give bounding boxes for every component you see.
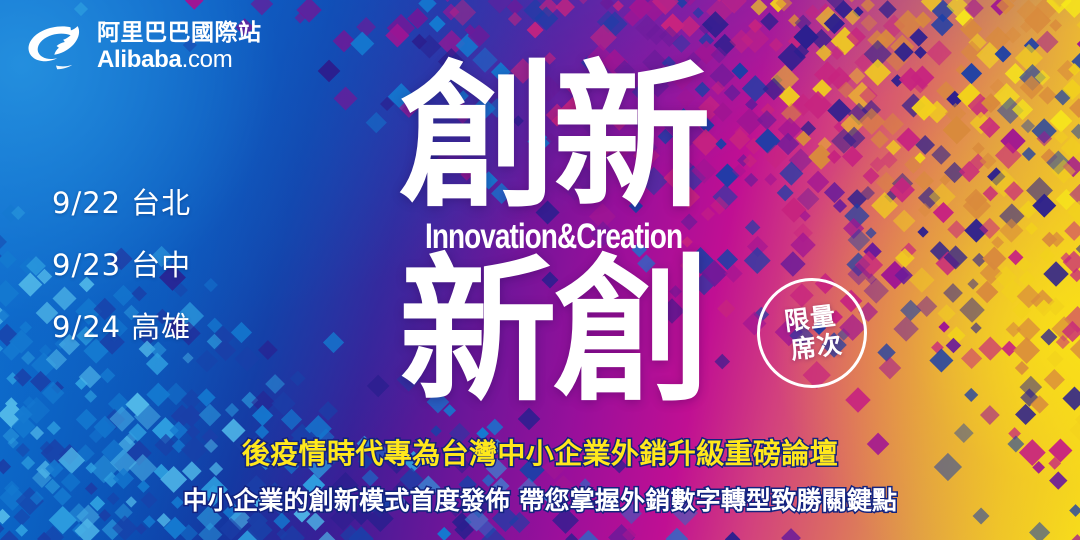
city-name: 台北 [131,186,191,220]
date-value: 9/22 [52,186,121,220]
tagline-primary: 後疫情時代專為台灣中小企業外銷升級重磅論壇 [0,432,1080,472]
logo-chinese-name: 阿里巴巴國際站 [97,22,262,45]
headline-line-2: 新創 [393,256,713,409]
alibaba-logo[interactable]: 阿里巴巴國際站 Alibaba.com [26,22,262,72]
date-row-kaohsiung: 9/24高雄 [52,304,191,346]
promo-banner: 阿里巴巴國際站 Alibaba.com 9/22台北 9/23台中 9/24高雄… [0,0,1080,540]
alibaba-swoosh-icon [26,24,88,70]
city-name: 高雄 [131,310,191,344]
date-row-taipei: 9/22台北 [52,180,191,222]
date-value: 9/24 [52,310,121,344]
city-name: 台中 [131,248,191,282]
headline-line-1: 創新 [393,62,713,215]
tagline-block: 後疫情時代專為台灣中小企業外銷升級重磅論壇 中小企業的創新模式首度發佈 帶您掌握… [0,432,1080,517]
date-value: 9/23 [52,248,121,282]
logo-english-name: Alibaba.com [97,48,262,72]
event-date-list: 9/22台北 9/23台中 9/24高雄 [52,180,191,346]
headline-subtitle-english: Innovation&Creation [425,219,681,254]
headline-block: 創新 Innovation&Creation 新創 [393,62,713,410]
date-row-taichung: 9/23台中 [52,242,191,284]
badge-line-2: 席次 [789,329,844,365]
tagline-secondary: 中小企業的創新模式首度發佈 帶您掌握外銷數字轉型致勝關鍵點 [0,481,1080,517]
logo-domain-suffix: .com [182,46,233,73]
logo-wordmark: 阿里巴巴國際站 Alibaba.com [97,22,262,72]
